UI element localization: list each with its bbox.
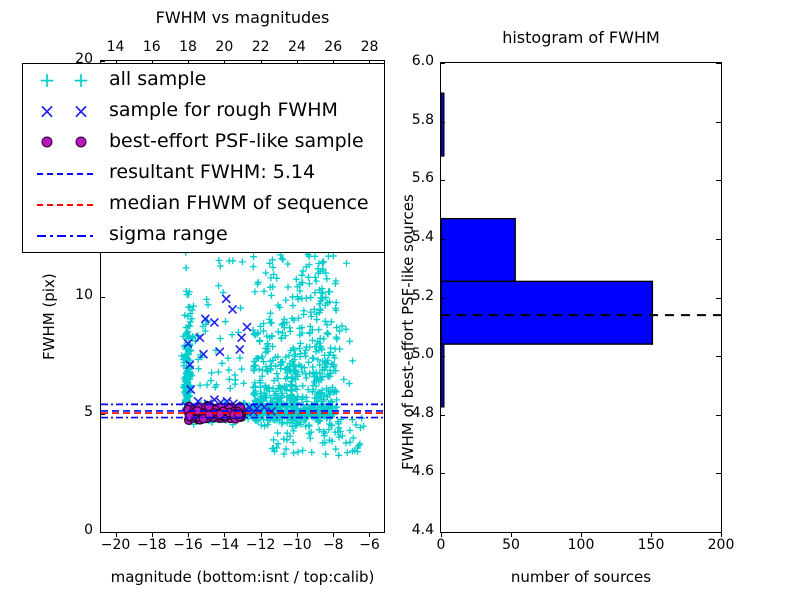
hist-y-tick-label: 5.6 bbox=[399, 170, 434, 186]
hist-y-tick-label: 4.4 bbox=[399, 522, 434, 538]
left-ylabel: FWHM (pix) bbox=[40, 273, 58, 360]
y-tick-mark bbox=[100, 61, 105, 62]
x-tick-label: −8 bbox=[313, 537, 353, 553]
y-tick-label: 0 bbox=[60, 522, 93, 538]
legend-label: resultant FWHM: 5.14 bbox=[109, 157, 315, 188]
plus-marker-icon: ++ bbox=[23, 64, 109, 95]
figure-canvas: FWHM vs magnitudes −20−18−16−14−12−10−8−… bbox=[0, 0, 800, 600]
hist-y-tick-mark-right bbox=[716, 180, 721, 181]
histogram-bar bbox=[441, 93, 444, 156]
hist-y-tick-mark bbox=[440, 473, 445, 474]
legend-entry[interactable]: resultant FWHM: 5.14 bbox=[23, 157, 384, 188]
x-tick-label: −6 bbox=[349, 537, 389, 553]
hist-y-tick-label: 5.8 bbox=[399, 112, 434, 128]
hist-y-tick-mark-right bbox=[716, 415, 721, 416]
top-x-tick-label: 26 bbox=[313, 39, 353, 55]
histogram-bar bbox=[441, 219, 515, 282]
dashdot-line-icon bbox=[23, 219, 109, 250]
top-x-tick-label: 20 bbox=[204, 39, 244, 55]
legend-label: all sample bbox=[109, 64, 206, 95]
legend-entry[interactable]: median FHWM of sequence bbox=[23, 188, 384, 219]
legend-label: median FHWM of sequence bbox=[109, 188, 369, 219]
hist-y-tick-mark bbox=[440, 180, 445, 181]
x-tick-label: −20 bbox=[96, 537, 136, 553]
legend-entry[interactable]: best-effort PSF-like sample bbox=[23, 126, 384, 157]
legend-entry[interactable]: ++all sample bbox=[23, 64, 384, 95]
legend-entry[interactable]: ××sample for rough FWHM bbox=[23, 95, 384, 126]
hist-y-tick-mark-right bbox=[716, 239, 721, 240]
right-plot-title: histogram of FWHM bbox=[440, 28, 722, 47]
hist-y-tick-mark-right bbox=[716, 122, 721, 123]
legend-label: sigma range bbox=[109, 219, 228, 250]
hist-y-tick-mark bbox=[440, 63, 445, 64]
top-x-tick-label: 24 bbox=[277, 39, 317, 55]
right-xlabel: number of sources bbox=[440, 568, 722, 586]
y-tick-mark bbox=[100, 532, 105, 533]
hist-y-tick-mark bbox=[440, 298, 445, 299]
left-xlabel: magnitude (bottom:isnt / top:calib) bbox=[100, 568, 385, 586]
top-x-tick-label: 14 bbox=[96, 39, 136, 55]
y-tick-mark bbox=[100, 414, 105, 415]
histogram-bar bbox=[441, 344, 444, 407]
hist-y-tick-mark bbox=[440, 356, 445, 357]
hist-y-tick-mark-right bbox=[716, 298, 721, 299]
top-x-tick-label: 22 bbox=[241, 39, 281, 55]
right-ylabel: FWHM of best-effort PSF-like sources bbox=[399, 194, 417, 470]
dashed-line-icon bbox=[23, 157, 109, 188]
hist-y-tick-mark bbox=[440, 239, 445, 240]
dashed-line-icon bbox=[23, 188, 109, 219]
legend-label: sample for rough FWHM bbox=[109, 95, 338, 126]
histogram-bar bbox=[441, 281, 652, 344]
legend-box: ++all sample××sample for rough FWHMbest-… bbox=[22, 63, 385, 253]
hist-y-tick-mark-right bbox=[716, 356, 721, 357]
y-tick-label: 5 bbox=[60, 404, 93, 420]
x-marker-icon: ×× bbox=[23, 95, 109, 126]
histogram-data-layer bbox=[441, 63, 721, 532]
x-tick-label: −10 bbox=[277, 537, 317, 553]
hist-x-tick-label: 50 bbox=[486, 537, 536, 553]
y-tick-label: 10 bbox=[60, 287, 93, 303]
hist-y-tick-mark bbox=[440, 122, 445, 123]
hist-y-tick-mark bbox=[440, 415, 445, 416]
top-x-tick-label: 16 bbox=[132, 39, 172, 55]
x-tick-label: −14 bbox=[204, 537, 244, 553]
x-tick-label: −18 bbox=[132, 537, 172, 553]
x-tick-label: −16 bbox=[168, 537, 208, 553]
hist-x-tick-label: 100 bbox=[556, 537, 606, 553]
hist-x-tick-label: 200 bbox=[696, 537, 746, 553]
legend-label: best-effort PSF-like sample bbox=[109, 126, 364, 157]
hist-y-tick-label: 6.0 bbox=[399, 53, 434, 69]
top-x-tick-label: 18 bbox=[168, 39, 208, 55]
x-tick-label: −12 bbox=[241, 537, 281, 553]
y-tick-mark bbox=[100, 297, 105, 298]
top-x-tick-label: 28 bbox=[349, 39, 389, 55]
legend-entry[interactable]: sigma range bbox=[23, 219, 384, 250]
hist-x-tick-label: 150 bbox=[626, 537, 676, 553]
circle-marker-icon bbox=[23, 126, 109, 157]
hist-y-tick-mark-right bbox=[716, 63, 721, 64]
hist-x-tick-label: 0 bbox=[416, 537, 466, 553]
left-plot-title: FWHM vs magnitudes bbox=[100, 8, 385, 27]
histogram-axes bbox=[440, 62, 722, 533]
hist-y-tick-mark-right bbox=[716, 473, 721, 474]
hist-y-tick-mark bbox=[440, 532, 445, 533]
hist-y-tick-mark-right bbox=[716, 532, 721, 533]
